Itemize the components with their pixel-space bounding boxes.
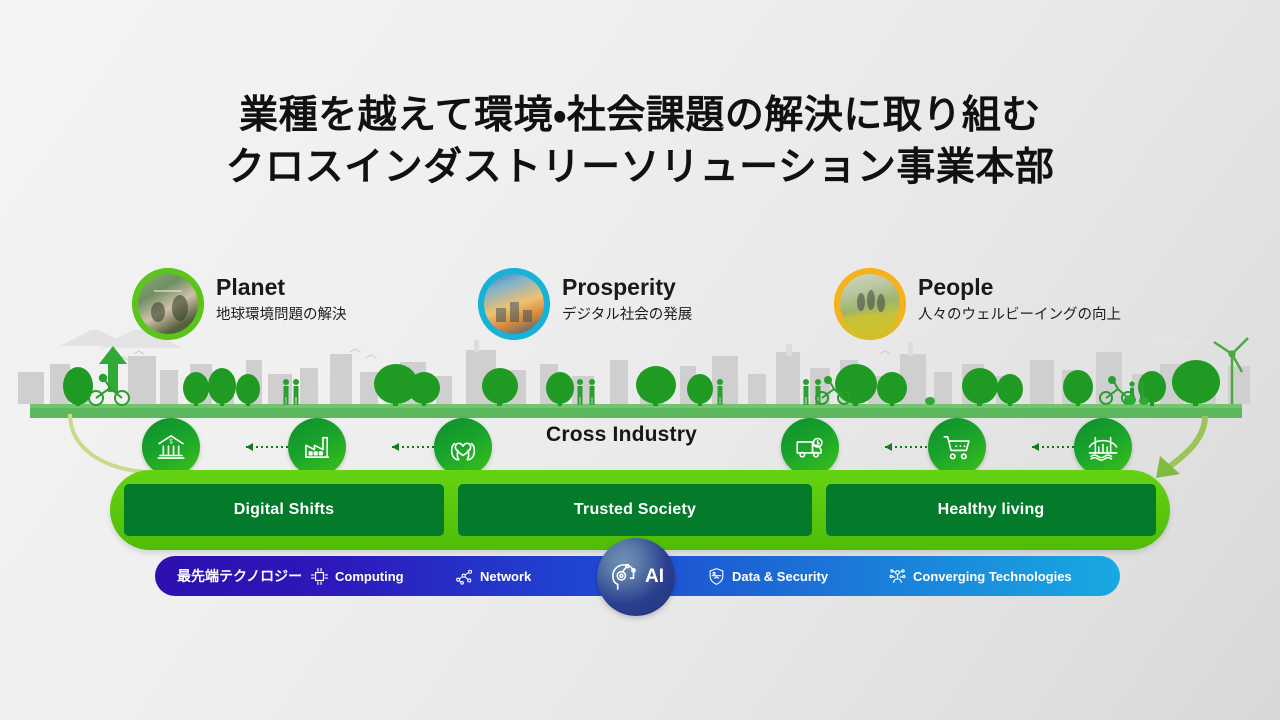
capsule-item-healthy-living[interactable]: Healthy living bbox=[826, 484, 1156, 536]
pillar-planet[interactable]: Planet 地球環境問題の解決 bbox=[132, 268, 347, 340]
svg-text:$: $ bbox=[169, 440, 173, 446]
industry-icon-manufacturing[interactable] bbox=[288, 418, 346, 476]
shopping-cart-icon bbox=[940, 430, 974, 464]
tech-item-label: Data & Security bbox=[732, 569, 828, 584]
ai-bubble[interactable]: AI bbox=[597, 538, 675, 616]
industry-icon-healthcare[interactable] bbox=[434, 418, 492, 476]
network-nodes-icon bbox=[455, 567, 474, 586]
tech-item-converging-technologies[interactable]: Converging Technologies bbox=[888, 567, 1072, 586]
industry-icon-retail[interactable] bbox=[928, 418, 986, 476]
tech-item-network[interactable]: Network bbox=[455, 567, 531, 586]
industry-icon-logistics[interactable] bbox=[781, 418, 839, 476]
tech-heading-label: 最先端テクノロジー bbox=[177, 566, 302, 586]
bridge-icon bbox=[1086, 430, 1120, 464]
right-arrow-head bbox=[1156, 456, 1180, 478]
slide-canvas: 業種を越えて環境・社会課題の解決に取り組む クロスインダストリーソリューション事… bbox=[0, 0, 1280, 720]
left-curved-arrow bbox=[70, 414, 146, 472]
title-line-2: クロスインダストリーソリューション事業本部 bbox=[0, 142, 1280, 194]
delivery-truck-clock-icon bbox=[793, 430, 827, 464]
pillar-people[interactable]: People 人々のウェルビーイングの向上 bbox=[834, 268, 1121, 340]
capsule-item-label: Healthy living bbox=[938, 501, 1045, 519]
tech-item-data-security[interactable]: Data & Security bbox=[707, 567, 828, 586]
title-line-1: 業種を越えて環境・社会課題の解決に取り組む bbox=[0, 90, 1280, 142]
pillar-subtitle: デジタル社会の発展 bbox=[562, 304, 692, 326]
ai-label: AI bbox=[645, 566, 664, 588]
page-title: 業種を越えて環境・社会課題の解決に取り組む クロスインダストリーソリューション事… bbox=[0, 90, 1280, 194]
tech-item-label: Converging Technologies bbox=[913, 569, 1072, 584]
industry-icon-finance[interactable]: $ bbox=[142, 418, 200, 476]
pillar-name: People bbox=[918, 274, 1121, 300]
people-photo-badge bbox=[834, 268, 906, 340]
tech-heading: 最先端テクノロジー bbox=[177, 566, 302, 586]
tech-item-label: Network bbox=[480, 569, 531, 584]
heart-hands-icon bbox=[446, 430, 480, 464]
pillar-subtitle: 地球環境問題の解決 bbox=[216, 304, 347, 326]
tech-item-label: Computing bbox=[335, 569, 404, 584]
ai-head-icon bbox=[608, 560, 642, 594]
pillar-prosperity[interactable]: Prosperity デジタル社会の発展 bbox=[478, 268, 692, 340]
cpu-chip-icon bbox=[310, 567, 329, 586]
bank-icon: $ bbox=[154, 430, 188, 464]
pillar-name: Prosperity bbox=[562, 274, 692, 300]
capsule-item-label: Trusted Society bbox=[574, 501, 696, 519]
cross-industry-label: Cross Industry bbox=[546, 423, 697, 447]
shield-data-icon bbox=[707, 567, 726, 586]
industry-icon-infrastructure[interactable] bbox=[1074, 418, 1132, 476]
capsule-item-trusted-society[interactable]: Trusted Society bbox=[458, 484, 812, 536]
prosperity-photo-badge bbox=[478, 268, 550, 340]
pillar-badges: Planet 地球環境問題の解決 Prosperity デジタル社会の発展 bbox=[0, 268, 1280, 354]
planet-photo-badge bbox=[132, 268, 204, 340]
pillar-subtitle: 人々のウェルビーイングの向上 bbox=[918, 304, 1121, 326]
factory-icon bbox=[300, 430, 334, 464]
capsule-item-label: Digital Shifts bbox=[234, 501, 335, 519]
converging-tech-icon bbox=[888, 567, 907, 586]
capsule-item-digital-shifts[interactable]: Digital Shifts bbox=[124, 484, 444, 536]
pillar-name: Planet bbox=[216, 274, 347, 300]
tech-item-computing[interactable]: Computing bbox=[310, 567, 404, 586]
